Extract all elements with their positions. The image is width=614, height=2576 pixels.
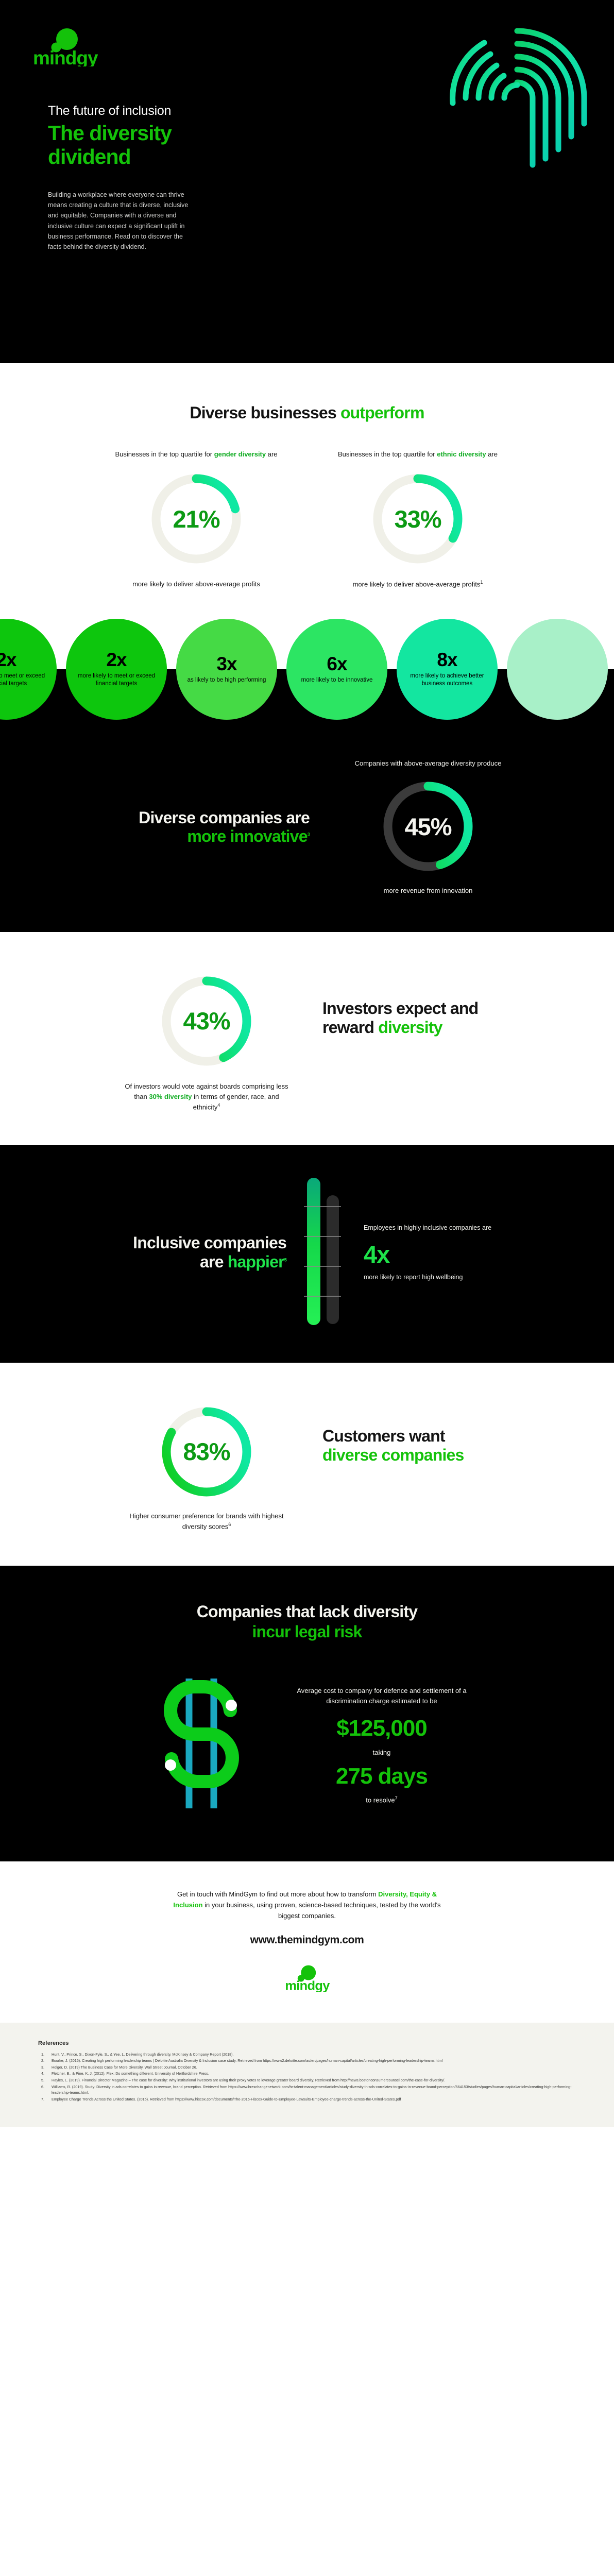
customers-inner: 83% Higher consumer preference for brand… [0, 1393, 614, 1532]
caption-bold: ethnic diversity [437, 450, 486, 458]
hero-section: mindgym [0, 0, 614, 363]
cta-url[interactable]: www.themindgym.com [0, 1934, 614, 1946]
heading-accent: diversity [378, 1018, 442, 1037]
caption-post: are [266, 450, 277, 458]
bubble-decorative [507, 619, 608, 720]
ending-text: to resolve [366, 1796, 395, 1804]
multiplier-band: 2x more likely to meet or exceed financi… [0, 610, 614, 728]
investors-stat-block: 43% Of investors would vote against boar… [122, 962, 292, 1113]
mindgym-logo-icon: mindgym [284, 1965, 330, 1992]
stat-ethnic-caption: Businesses in the top quartile for ethni… [333, 449, 503, 460]
heading-accent: more innovative [187, 827, 307, 845]
heading-accent: happier [228, 1252, 284, 1271]
bubble-value: 6x [327, 654, 347, 673]
svg-text:mindgym: mindgym [33, 47, 98, 66]
donut-chart-innovation: 45% [379, 777, 477, 875]
investors-inner: 43% Of investors would vote against boar… [0, 962, 614, 1113]
happier-stat-block: Employees in highly inclusive companies … [359, 1223, 492, 1282]
donut-customers-value: 83% [158, 1403, 255, 1501]
caption-post: in terms of gender, race, and ethnicity [192, 1093, 279, 1111]
cta-text-pre: Get in touch with MindGym to find out mo… [177, 1890, 378, 1898]
innovative-heading-block: Diverse companies are more innovative3 [104, 808, 310, 846]
bubble-2x-value: 2x [0, 650, 16, 669]
bubble-value: 3x [216, 654, 236, 673]
donut-chart-ethnic: 33% [369, 470, 467, 568]
reference-item: Hunt, V., Prince, S., Dixon-Fyle, S., & … [38, 2052, 576, 2058]
investors-section: 43% Of investors would vote against boar… [0, 932, 614, 1145]
caption-pre: Businesses in the top quartile for [115, 450, 214, 458]
hero-title: The diversity dividend [48, 122, 218, 169]
stat-ethnic-diversity: Businesses in the top quartile for ethni… [333, 449, 503, 589]
happier-inner: Inclusive companies are happier5 [0, 1177, 614, 1329]
caption-pre: Businesses in the top quartile for [338, 450, 437, 458]
footnote-marker: 1 [480, 580, 483, 585]
donut-investors-value: 43% [158, 972, 255, 1070]
happier-side-caption: Employees in highly inclusive companies … [364, 1223, 492, 1233]
outperform-section: Diverse businesses outperform Businesses… [0, 363, 614, 728]
legal-text-block: Average cost to company for defence and … [289, 1686, 474, 1804]
caption-text: Higher consumer preference for brands wi… [129, 1512, 283, 1530]
innovative-inner: Diverse companies are more innovative3 C… [0, 753, 614, 896]
reference-item: Holger, D. (2019) The Business Case for … [38, 2064, 576, 2071]
bubble-3x: 3x as likely to be high performing [176, 619, 277, 720]
happier-side-sub: more likely to report high wellbeing [364, 1273, 492, 1282]
footnote-marker: 7 [395, 1795, 398, 1801]
footnote-marker: 6 [228, 1522, 231, 1527]
footer-text: more likely to deliver above-average pro… [353, 580, 481, 588]
bubble-text: as likely to be high performing [187, 676, 266, 684]
bubble-2x: 2x more likely to meet or exceed financi… [0, 619, 57, 720]
outperform-heading-accent: outperform [340, 403, 424, 422]
happier-heading-block: Inclusive companies are happier5 [122, 1233, 286, 1272]
multiplier-circles: 2x more likely to meet or exceed financi… [0, 610, 614, 728]
stat-ethnic-footer: more likely to deliver above-average pro… [333, 579, 503, 589]
cta-section: Get in touch with MindGym to find out mo… [0, 1861, 614, 2022]
heading-accent: diverse companies [322, 1446, 464, 1464]
investors-heading-block: Investors expect and reward diversity [322, 962, 492, 1037]
reference-item: Fletcher, B., & Pine, K. J. (2012). Flex… [38, 2071, 576, 2077]
legal-middle: taking [289, 1749, 474, 1756]
infographic-page: mindgym [0, 0, 614, 2127]
legal-ending: to resolve7 [289, 1795, 474, 1804]
legal-heading: Companies that lack diversity incur lega… [0, 1602, 614, 1641]
footnote-marker: 4 [217, 1103, 220, 1108]
outperform-heading-plain: Diverse businesses [190, 403, 340, 422]
customers-section: 83% Higher consumer preference for brand… [0, 1363, 614, 1566]
mindgym-logo: mindgym [32, 28, 98, 66]
donut-chart-customers: 83% [158, 1403, 255, 1501]
innovative-stat-block: Companies with above-average diversity p… [346, 758, 510, 896]
heading-accent: incur legal risk [252, 1622, 362, 1641]
reference-item: Employee Charge Trends Across the United… [38, 2096, 576, 2103]
cta-mindgym-logo: mindgym [0, 1965, 614, 1992]
hero-text-block: The future of inclusion The diversity di… [48, 103, 218, 252]
heading-plain: Companies that lack diversity [197, 1602, 418, 1621]
bubble-value: 2x [106, 650, 126, 669]
stat-gender-diversity: Businesses in the top quartile for gende… [111, 449, 281, 589]
legal-graphic [140, 1671, 263, 1818]
stat-gender-caption: Businesses in the top quartile for gende… [111, 449, 281, 460]
innovative-heading: Diverse companies are more innovative3 [104, 808, 310, 846]
caption-bold: gender diversity [214, 450, 266, 458]
thermometer-icon [304, 1177, 341, 1326]
heading-plain: Diverse companies are [139, 808, 310, 827]
bubble-6x: 6x more likely to be innovative [286, 619, 387, 720]
mindgym-logo-icon: mindgym [32, 28, 98, 66]
innovative-section: Diverse companies are more innovative3 C… [0, 728, 614, 932]
customers-heading-block: Customers want diverse companies [322, 1393, 492, 1465]
hero-kicker: The future of inclusion [48, 103, 218, 118]
legal-inner: Average cost to company for defence and … [0, 1671, 614, 1818]
caption-bold: 30% diversity [149, 1093, 192, 1100]
legal-amount: $125,000 [289, 1716, 474, 1741]
investors-heading: Investors expect and reward diversity [322, 999, 492, 1037]
bubble-2x-main: 2x more likely to meet or exceed financi… [66, 619, 167, 720]
reference-item: Williams, R. (2019). Study: Diversity in… [38, 2084, 576, 2096]
innovative-footer: more revenue from innovation [346, 886, 510, 896]
happier-section: Inclusive companies are happier5 [0, 1145, 614, 1363]
legal-days: 275 days [289, 1764, 474, 1789]
svg-text:mindgym: mindgym [285, 1978, 330, 1991]
bubble-value: 8x [437, 650, 457, 669]
reference-item: Bourke, J. (2016). Creating high perform… [38, 2058, 576, 2064]
customers-heading: Customers want diverse companies [322, 1427, 492, 1465]
bubble-text: more likely to achieve better business o… [406, 672, 488, 688]
customers-caption: Higher consumer preference for brands wi… [122, 1511, 292, 1532]
donut-chart-gender: 21% [147, 470, 245, 568]
happier-heading: Inclusive companies are happier5 [122, 1233, 286, 1272]
references-section: References Hunt, V., Prince, S., Dixon-F… [0, 2023, 614, 2127]
caption-post: are [486, 450, 498, 458]
stat-gender-footer: more likely to deliver above-average pro… [111, 579, 281, 589]
donut-ethnic-value: 33% [369, 470, 467, 568]
outperform-stats: Businesses in the top quartile for gende… [0, 449, 614, 589]
customers-stat-block: 83% Higher consumer preference for brand… [122, 1393, 292, 1532]
references-title: References [38, 2040, 576, 2046]
innovative-caption: Companies with above-average diversity p… [346, 758, 510, 769]
dollar-sign-icon [140, 1671, 263, 1816]
bubble-text: more likely to meet or exceed financial … [75, 672, 158, 688]
donut-innovation-value: 45% [379, 777, 477, 875]
happier-gauge [304, 1177, 341, 1329]
investors-caption: Of investors would vote against boards c… [122, 1081, 292, 1113]
happier-value: 4x [364, 1240, 492, 1268]
heading-footnote: 5 [284, 1258, 286, 1263]
bubble-text: more likely to be innovative [301, 676, 373, 684]
legal-risk-section: Companies that lack diversity incur lega… [0, 1566, 614, 1861]
cta-paragraph: Get in touch with MindGym to find out mo… [168, 1889, 446, 1921]
donut-chart-investors: 43% [158, 972, 255, 1070]
legal-caption: Average cost to company for defence and … [289, 1686, 474, 1706]
hero-body: Building a workplace where everyone can … [48, 190, 190, 252]
cta-text-post: in your business, using proven, science-… [202, 1901, 440, 1920]
reference-item: Hayles, L. (2019). Financial Director Ma… [38, 2077, 576, 2083]
heading-plain: Customers want [322, 1427, 445, 1445]
donut-gender-value: 21% [147, 470, 245, 568]
bubble-2x-text: more likely to meet or exceed financial … [0, 672, 47, 688]
references-list: Hunt, V., Prince, S., Dixon-Fyle, S., & … [38, 2052, 576, 2103]
fingerprint-icon [440, 21, 594, 180]
bubble-8x: 8x more likely to achieve better busines… [397, 619, 498, 720]
outperform-heading: Diverse businesses outperform [0, 403, 614, 422]
heading-footnote: 3 [308, 832, 310, 837]
